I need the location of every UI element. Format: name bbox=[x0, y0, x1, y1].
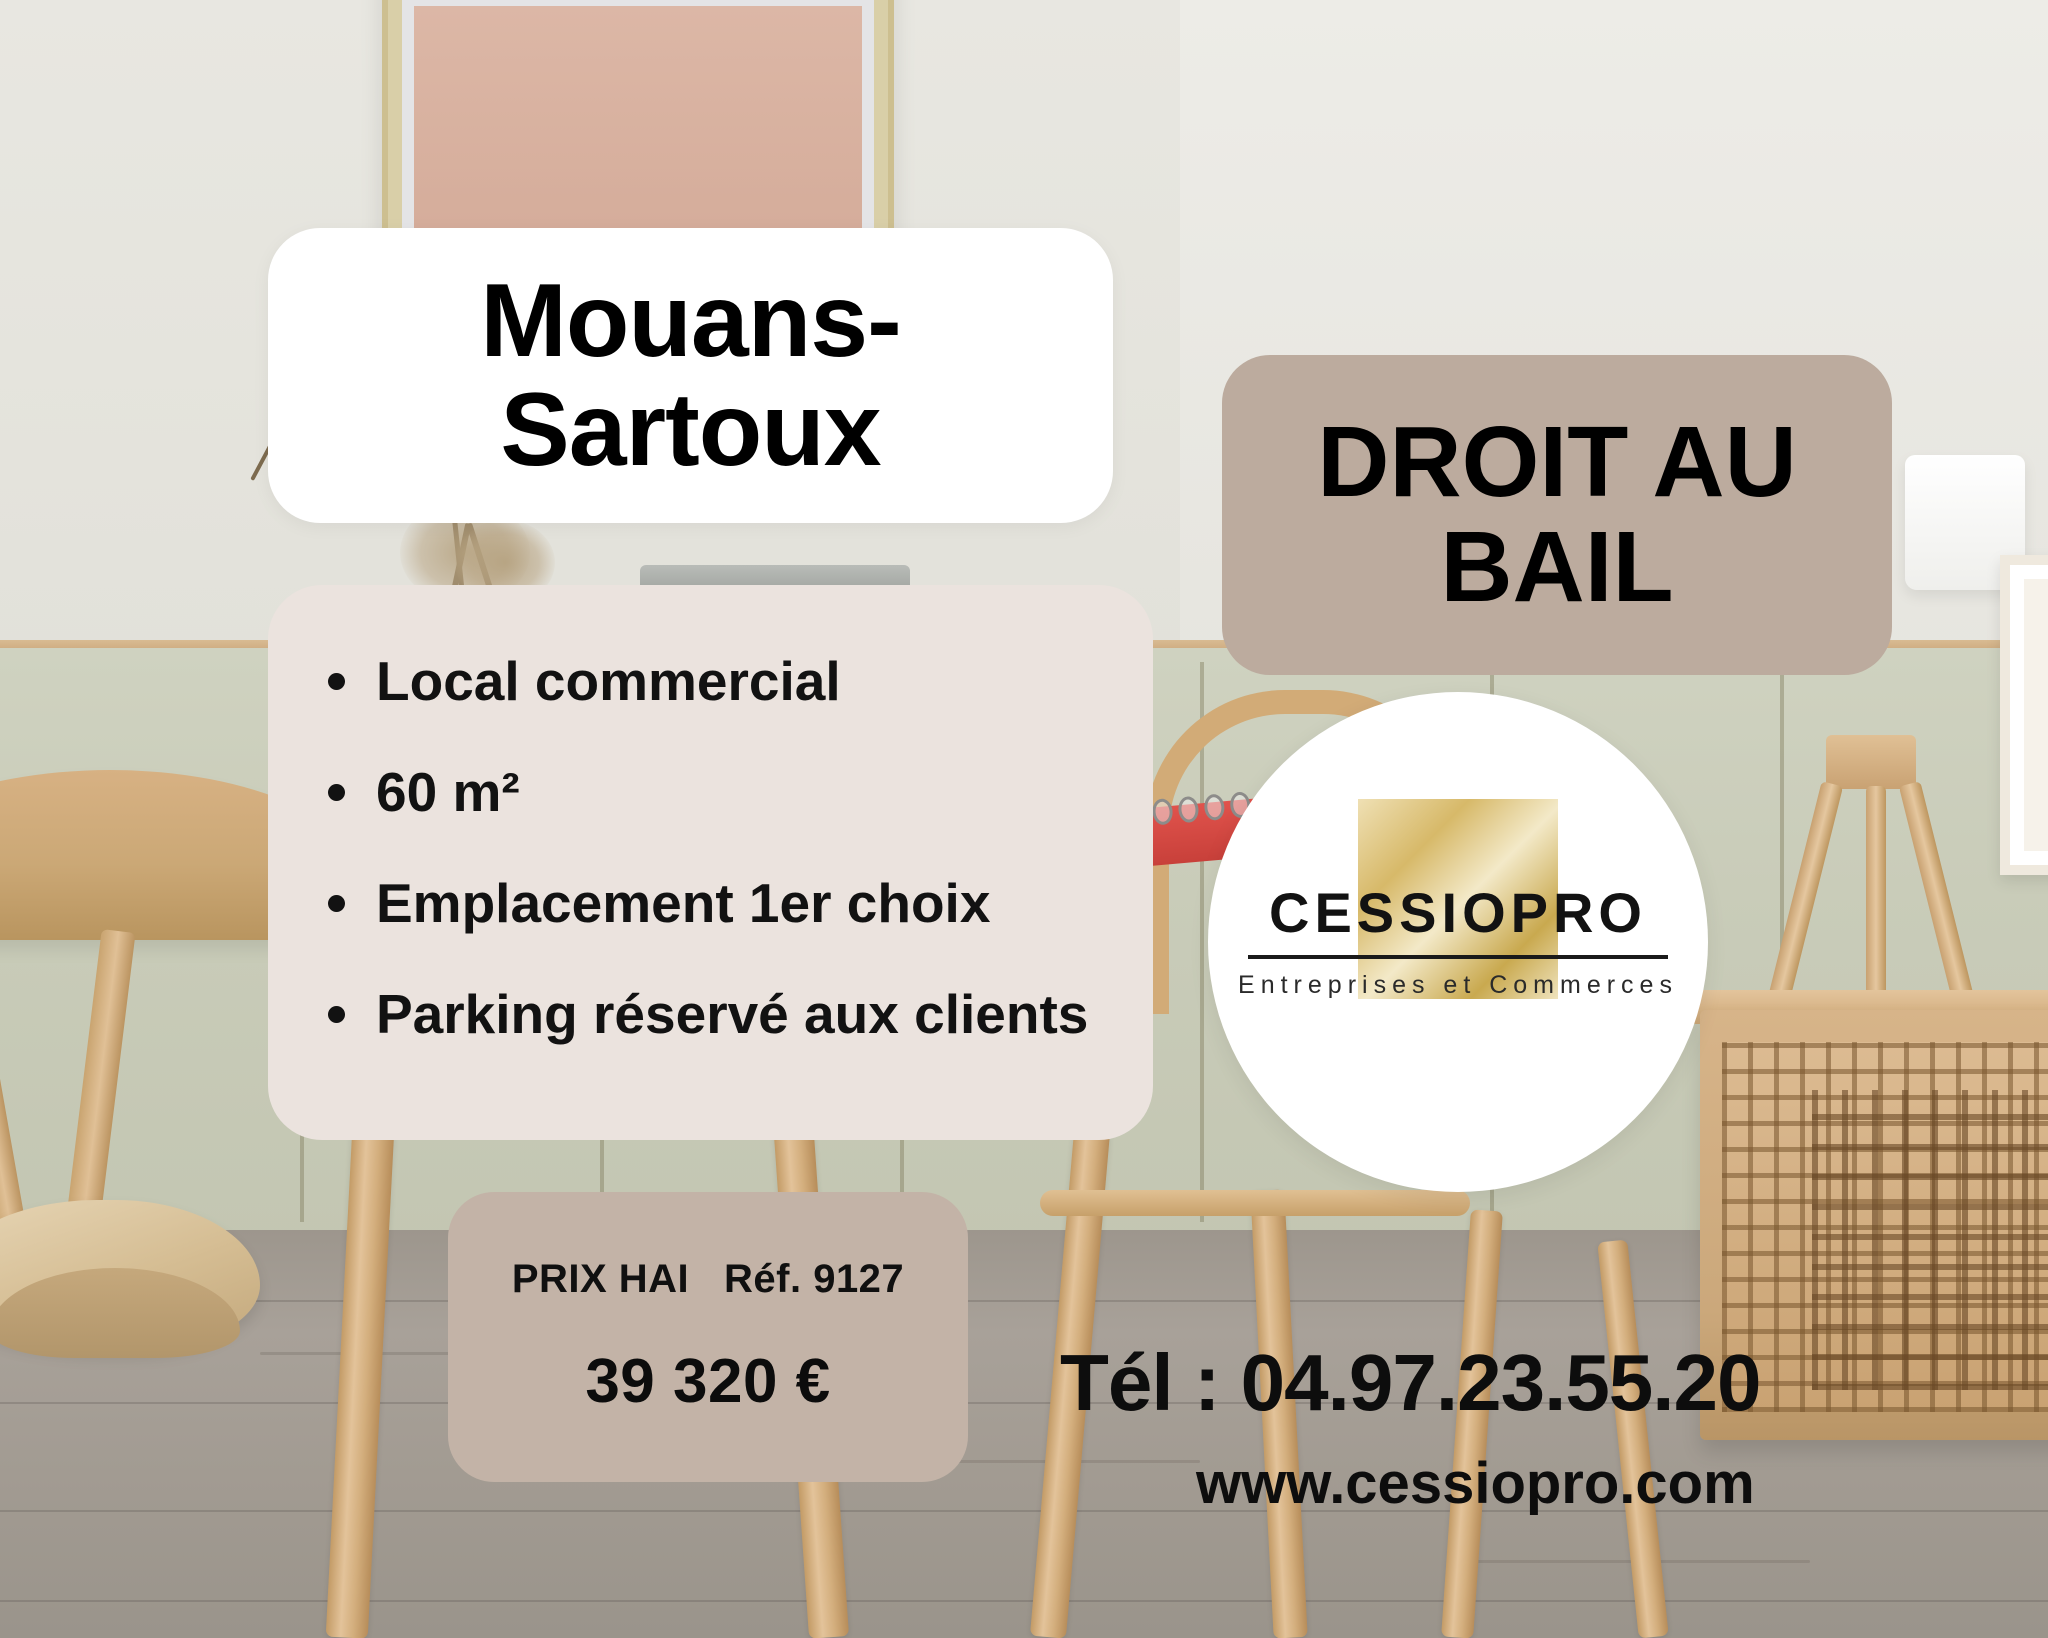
title-line-2: Sartoux bbox=[500, 372, 880, 488]
location-title-card: Mouans-Sartoux bbox=[268, 228, 1113, 523]
page-title: Mouans-Sartoux bbox=[440, 267, 941, 483]
list-item: Parking réservé aux clients bbox=[318, 970, 1089, 1059]
badge-line-2: BAIL bbox=[1440, 511, 1673, 623]
chair-rail bbox=[1040, 1190, 1470, 1216]
cane-weave-panel bbox=[1812, 1090, 2048, 1390]
badge-label: DROIT AUBAIL bbox=[1317, 410, 1797, 620]
tripod-head bbox=[1826, 735, 1916, 789]
company-logo: CESSIOPRO Entreprises et Commerces bbox=[1208, 692, 1708, 1192]
features-card: Local commercial 60 m² Emplacement 1er c… bbox=[268, 585, 1153, 1140]
list-item: 60 m² bbox=[318, 748, 1089, 837]
logo-inner: CESSIOPRO Entreprises et Commerces bbox=[1238, 885, 1678, 1000]
website-url[interactable]: www.cessiopro.com bbox=[1196, 1450, 1755, 1517]
status-badge: DROIT AUBAIL bbox=[1222, 355, 1892, 675]
leaning-picture-frame bbox=[2000, 555, 2048, 875]
floorboard-seam bbox=[0, 1600, 2048, 1602]
title-line-1: Mouans- bbox=[480, 263, 901, 379]
logo-divider bbox=[1248, 955, 1668, 959]
price-card: PRIX HAI Réf. 9127 39 320 € bbox=[448, 1192, 968, 1482]
artwork-canvas bbox=[414, 6, 862, 266]
listing-poster: Mouans-Sartoux DROIT AUBAIL Local commer… bbox=[0, 0, 2048, 1638]
logo-tagline: Entreprises et Commerces bbox=[1238, 971, 1678, 1000]
logo-wordmark: CESSIOPRO bbox=[1238, 885, 1678, 941]
list-item: Local commercial bbox=[318, 637, 1089, 726]
price-amount: 39 320 € bbox=[585, 1346, 830, 1417]
features-list: Local commercial 60 m² Emplacement 1er c… bbox=[268, 637, 1153, 1059]
price-reference-line: PRIX HAI Réf. 9127 bbox=[512, 1257, 904, 1302]
phone-number[interactable]: Tél : 04.97.23.55.20 bbox=[1060, 1337, 1761, 1429]
list-item: Emplacement 1er choix bbox=[318, 859, 1089, 948]
badge-line-1: DROIT AU bbox=[1317, 406, 1797, 518]
